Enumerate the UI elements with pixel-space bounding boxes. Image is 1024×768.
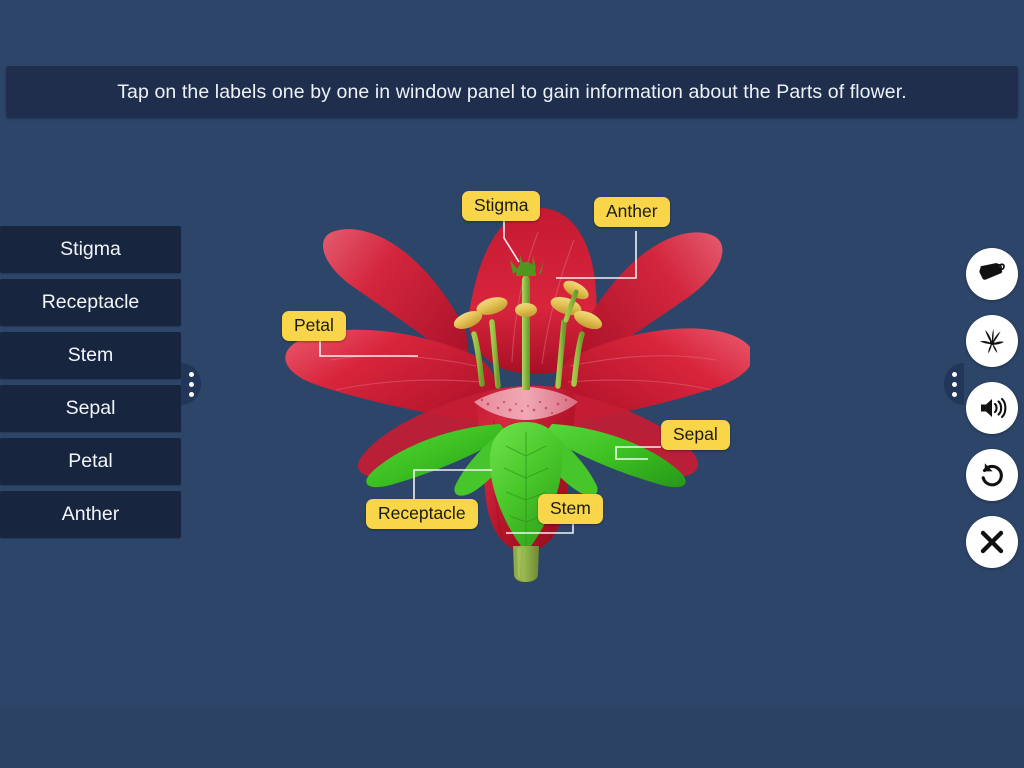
handle-dot: [952, 382, 957, 387]
reset-rotate-icon: [977, 460, 1007, 490]
instruction-banner: Tap on the labels one by one in window p…: [6, 66, 1018, 118]
handle-dot: [952, 372, 957, 377]
panel-item-stem[interactable]: Stem: [0, 332, 181, 379]
callout-sepal[interactable]: Sepal: [661, 420, 730, 450]
flower-icon: [977, 326, 1007, 356]
close-x-icon: [977, 527, 1007, 557]
handle-dot: [189, 372, 194, 377]
panel-item-label: Stem: [68, 344, 114, 367]
callout-anther[interactable]: Anther: [594, 197, 670, 227]
handle-dot: [952, 392, 957, 397]
panel-item-label: Sepal: [66, 397, 116, 420]
bottom-band: [0, 705, 1024, 768]
callout-receptacle[interactable]: Receptacle: [366, 499, 478, 529]
handle-dot: [189, 392, 194, 397]
callout-petal[interactable]: Petal: [282, 311, 346, 341]
panel-item-sepal[interactable]: Sepal: [0, 385, 181, 432]
labels-toggle-button[interactable]: [966, 248, 1018, 300]
instruction-text: Tap on the labels one by one in window p…: [117, 81, 907, 104]
panel-item-label: Anther: [62, 503, 119, 526]
callout-stem[interactable]: Stem: [538, 494, 603, 524]
panel-item-receptacle[interactable]: Receptacle: [0, 279, 181, 326]
tag-label-icon: [977, 259, 1007, 289]
reset-button[interactable]: [966, 449, 1018, 501]
flower-model-button[interactable]: [966, 315, 1018, 367]
parts-label-panel: Stigma Receptacle Stem Sepal Petal Anthe…: [0, 226, 181, 538]
speaker-volume-icon: [977, 393, 1007, 423]
panel-item-stigma[interactable]: Stigma: [0, 226, 181, 273]
close-button[interactable]: [966, 516, 1018, 568]
panel-item-label: Receptacle: [42, 291, 140, 314]
callout-stigma[interactable]: Stigma: [462, 191, 540, 221]
panel-item-label: Petal: [68, 450, 112, 473]
audio-button[interactable]: [966, 382, 1018, 434]
left-panel-drag-handle-dots-icon[interactable]: [181, 363, 201, 405]
handle-dot: [189, 382, 194, 387]
right-toolbar-drag-handle-dots-icon[interactable]: [944, 363, 964, 405]
flower-illustration[interactable]: [270, 170, 750, 590]
app-stage: Stigma Anther Petal Sepal Receptacle Ste…: [0, 0, 1024, 768]
panel-item-anther[interactable]: Anther: [0, 491, 181, 538]
panel-item-petal[interactable]: Petal: [0, 438, 181, 485]
panel-item-label: Stigma: [60, 238, 121, 261]
right-toolbar: [966, 248, 1018, 568]
